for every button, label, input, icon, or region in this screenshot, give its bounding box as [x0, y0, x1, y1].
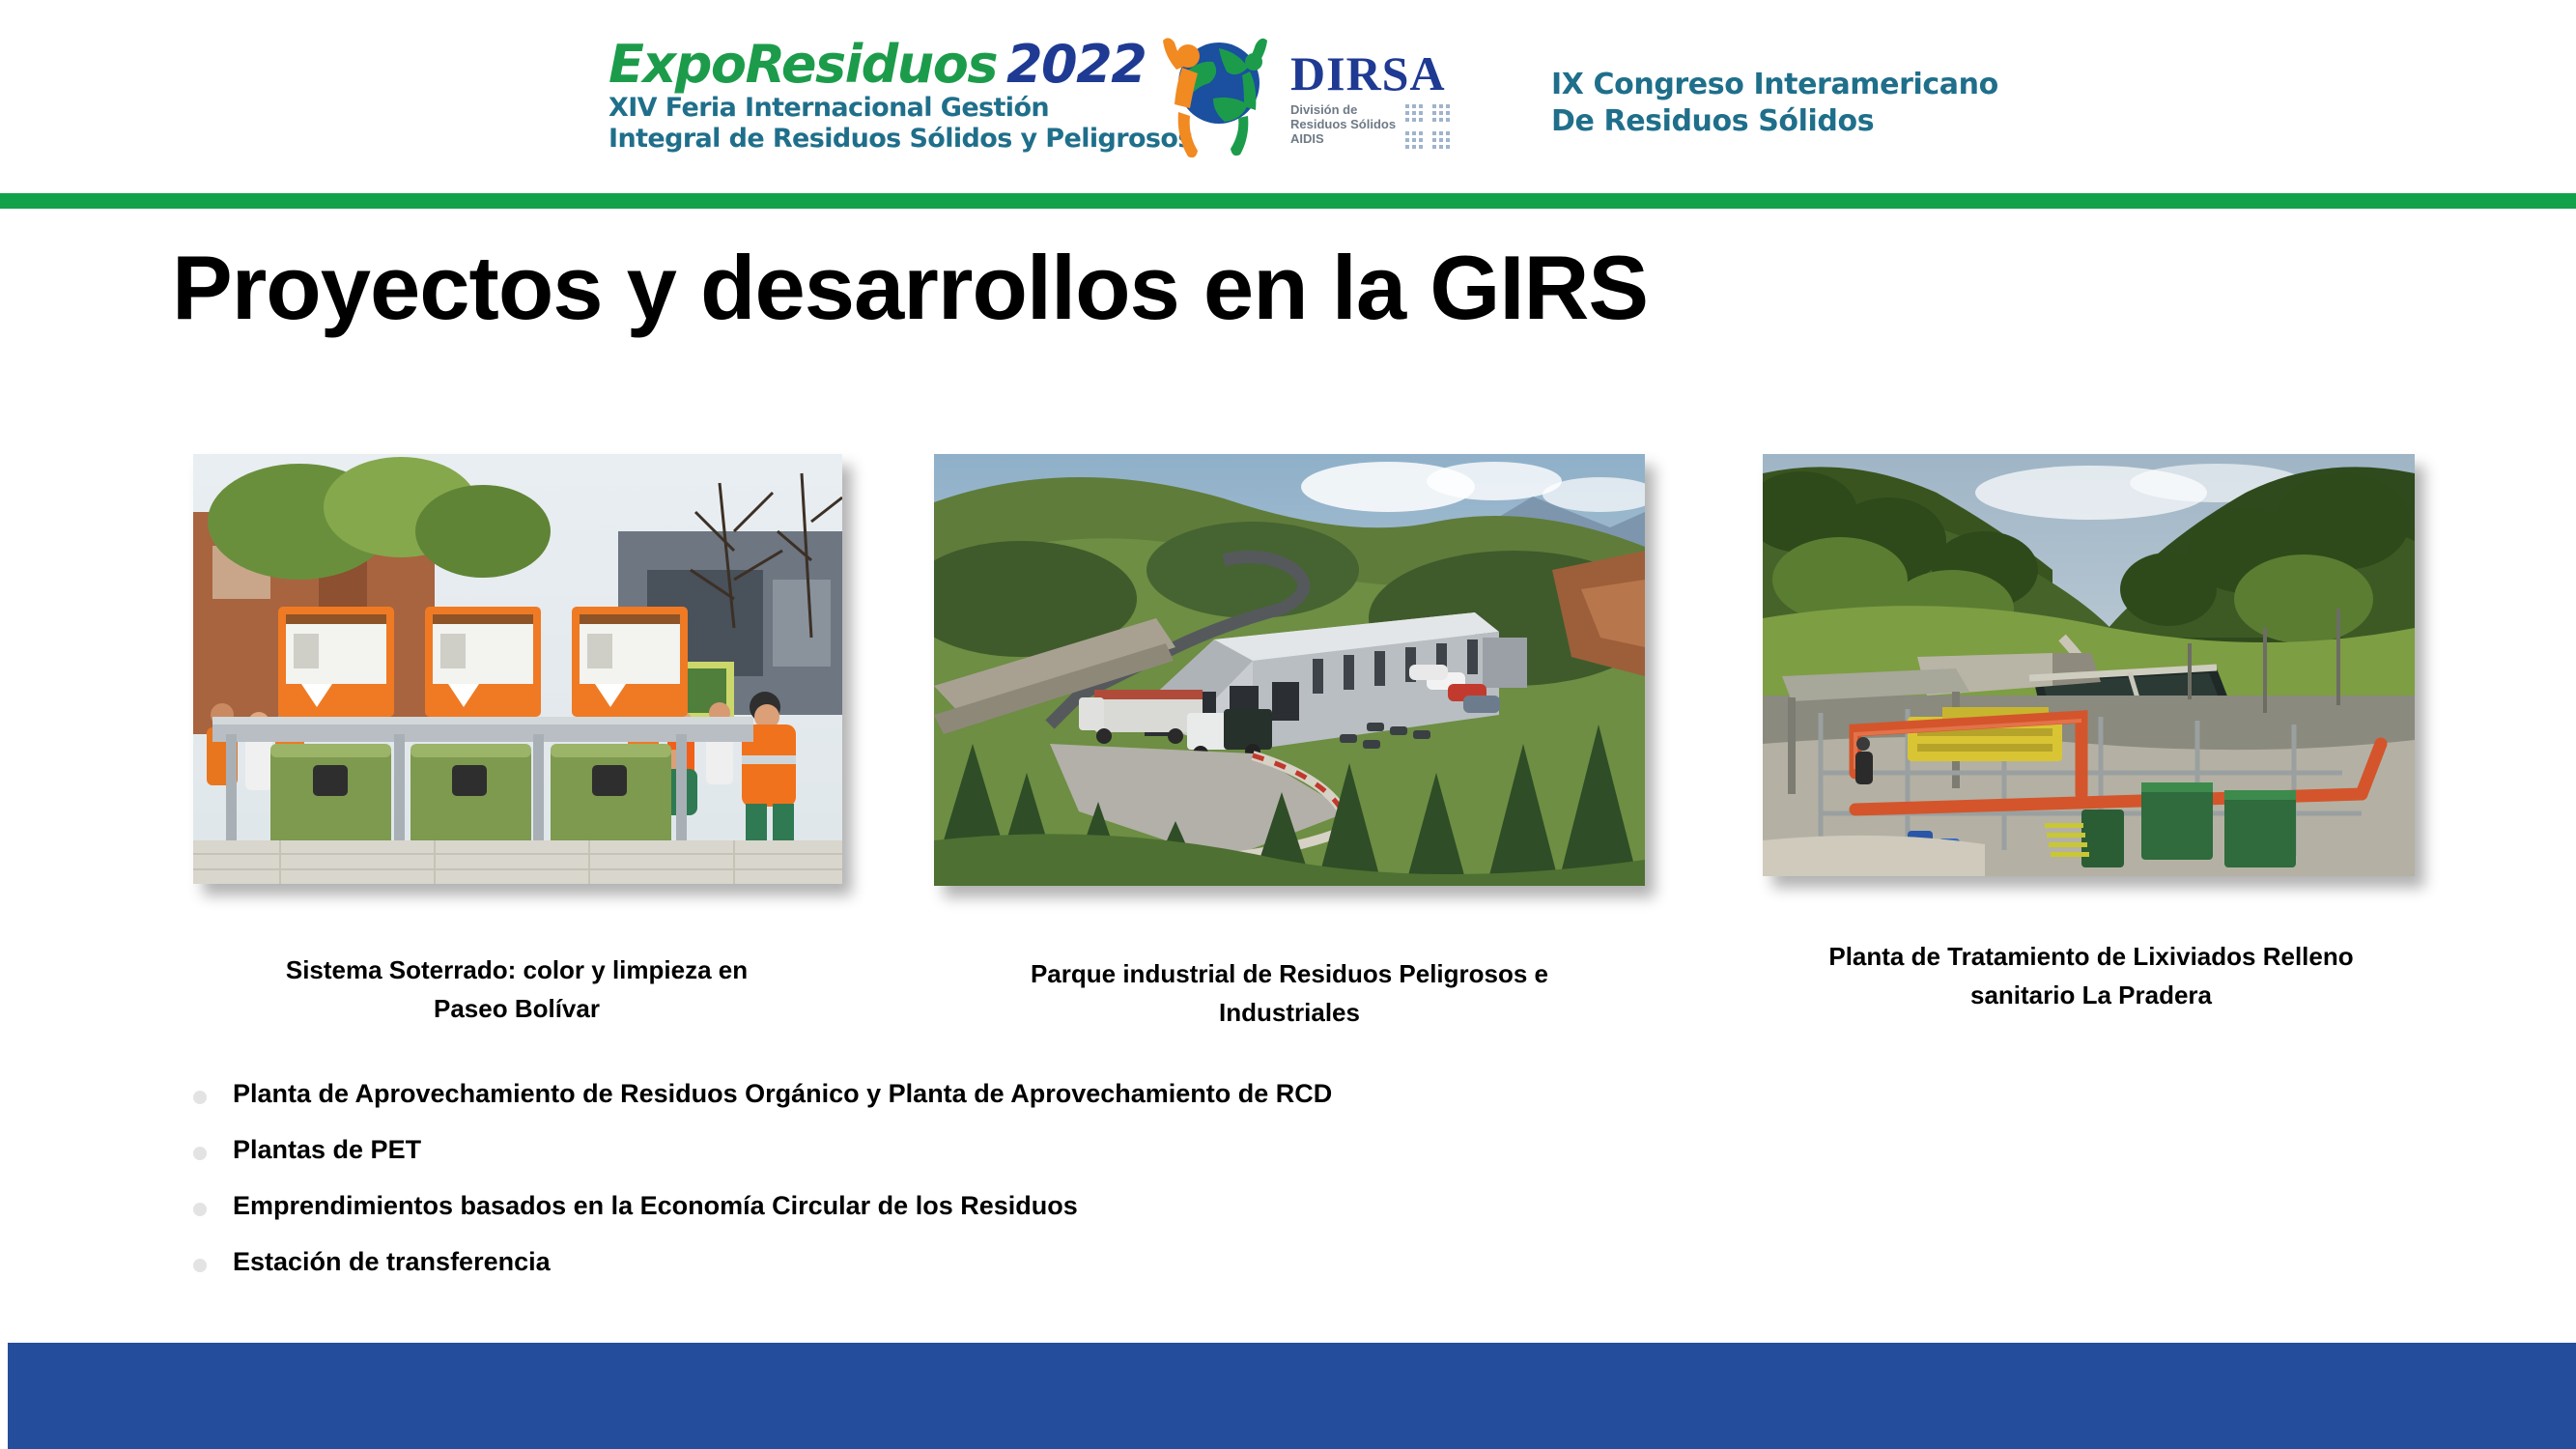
bullet-label: Emprendimientos basados en la Economía C…	[233, 1189, 1078, 1222]
list-item: Estación de transferencia	[193, 1245, 1932, 1301]
bullet-dot-icon	[193, 1091, 207, 1104]
slide-header: ExpoResiduos2022 XIV Feria Internacional…	[0, 0, 2576, 193]
slide-root: ExpoResiduos2022 XIV Feria Internacional…	[0, 0, 2576, 1449]
exporesiduos-logo: ExpoResiduos2022 XIV Feria Internacional…	[609, 37, 1149, 155]
exporesiduos-subtitle-line2: Integral de Residuos Sólidos y Peligroso…	[609, 124, 1149, 155]
dirsa-wordmark: DIRSA	[1290, 48, 1522, 99]
exporesiduos-wordmark: ExpoResiduos2022	[609, 37, 1149, 93]
bullet-label: Planta de Aprovechamiento de Residuos Or…	[233, 1077, 1332, 1110]
page-title: Proyectos y desarrollos en la GIRS	[172, 235, 2200, 341]
caption-lixiviados-line2: sanitario La Pradera	[1729, 976, 2453, 1014]
caption-soterrado-line1: Sistema Soterrado: color y limpieza en	[164, 951, 869, 989]
photo-soterrado	[193, 454, 842, 884]
list-item: Planta de Aprovechamiento de Residuos Or…	[193, 1077, 1932, 1133]
bullet-dot-icon	[193, 1203, 207, 1216]
footer-bar	[8, 1343, 2576, 1449]
dirsa-subtitle-text: División de Residuos Sólidos AIDIS	[1290, 102, 1396, 146]
list-item: Emprendimientos basados en la Economía C…	[193, 1189, 1932, 1245]
exporesiduos-subtitle-line1: XIV Feria Internacional Gestión	[609, 93, 1149, 124]
projects-bullet-list: Planta de Aprovechamiento de Residuos Or…	[193, 1077, 1932, 1301]
dirsa-subtitle-row: División de Residuos Sólidos AIDIS	[1290, 102, 1522, 153]
list-item: Plantas de PET	[193, 1133, 1932, 1189]
photo-parque-industrial	[934, 454, 1645, 886]
congress-line2: De Residuos Sólidos	[1551, 103, 1998, 140]
green-divider-bar	[0, 193, 2576, 209]
congress-title: IX Congreso Interamericano De Residuos S…	[1551, 51, 1998, 140]
dirsa-logo: DIRSA División de Residuos Sólidos AIDIS	[1290, 39, 1522, 153]
exporesiduos-year: 2022	[1006, 34, 1146, 95]
caption-soterrado-line2: Paseo Bolívar	[164, 989, 869, 1028]
caption-parque-line1: Parque industrial de Residuos Peligrosos…	[918, 954, 1661, 993]
dirsa-sub-line1: División de	[1290, 102, 1396, 117]
caption-lixiviados-line1: Planta de Tratamiento de Lixiviados Rell…	[1729, 937, 2453, 976]
caption-parque-industrial: Parque industrial de Residuos Peligrosos…	[918, 954, 1661, 1032]
caption-parque-line2: Industriales	[918, 993, 1661, 1032]
exporesiduos-brand: ExpoResiduos	[609, 34, 997, 95]
header-logo-row: ExpoResiduos2022 XIV Feria Internacional…	[609, 14, 1998, 178]
bullet-dot-icon	[193, 1259, 207, 1272]
dirsa-dot-pattern-icon	[1403, 102, 1471, 153]
globe-people-icon	[1153, 23, 1269, 168]
dirsa-sub-line2: Residuos Sólidos	[1290, 117, 1396, 131]
congress-line1: IX Congreso Interamericano	[1551, 67, 1998, 103]
photo-lixiviados	[1763, 454, 2415, 876]
bullet-label: Plantas de PET	[233, 1133, 421, 1166]
bullet-label: Estación de transferencia	[233, 1245, 551, 1278]
bullet-dot-icon	[193, 1147, 207, 1160]
caption-soterrado: Sistema Soterrado: color y limpieza en P…	[164, 951, 869, 1028]
caption-lixiviados: Planta de Tratamiento de Lixiviados Rell…	[1729, 937, 2453, 1014]
dirsa-sub-line3: AIDIS	[1290, 131, 1396, 146]
